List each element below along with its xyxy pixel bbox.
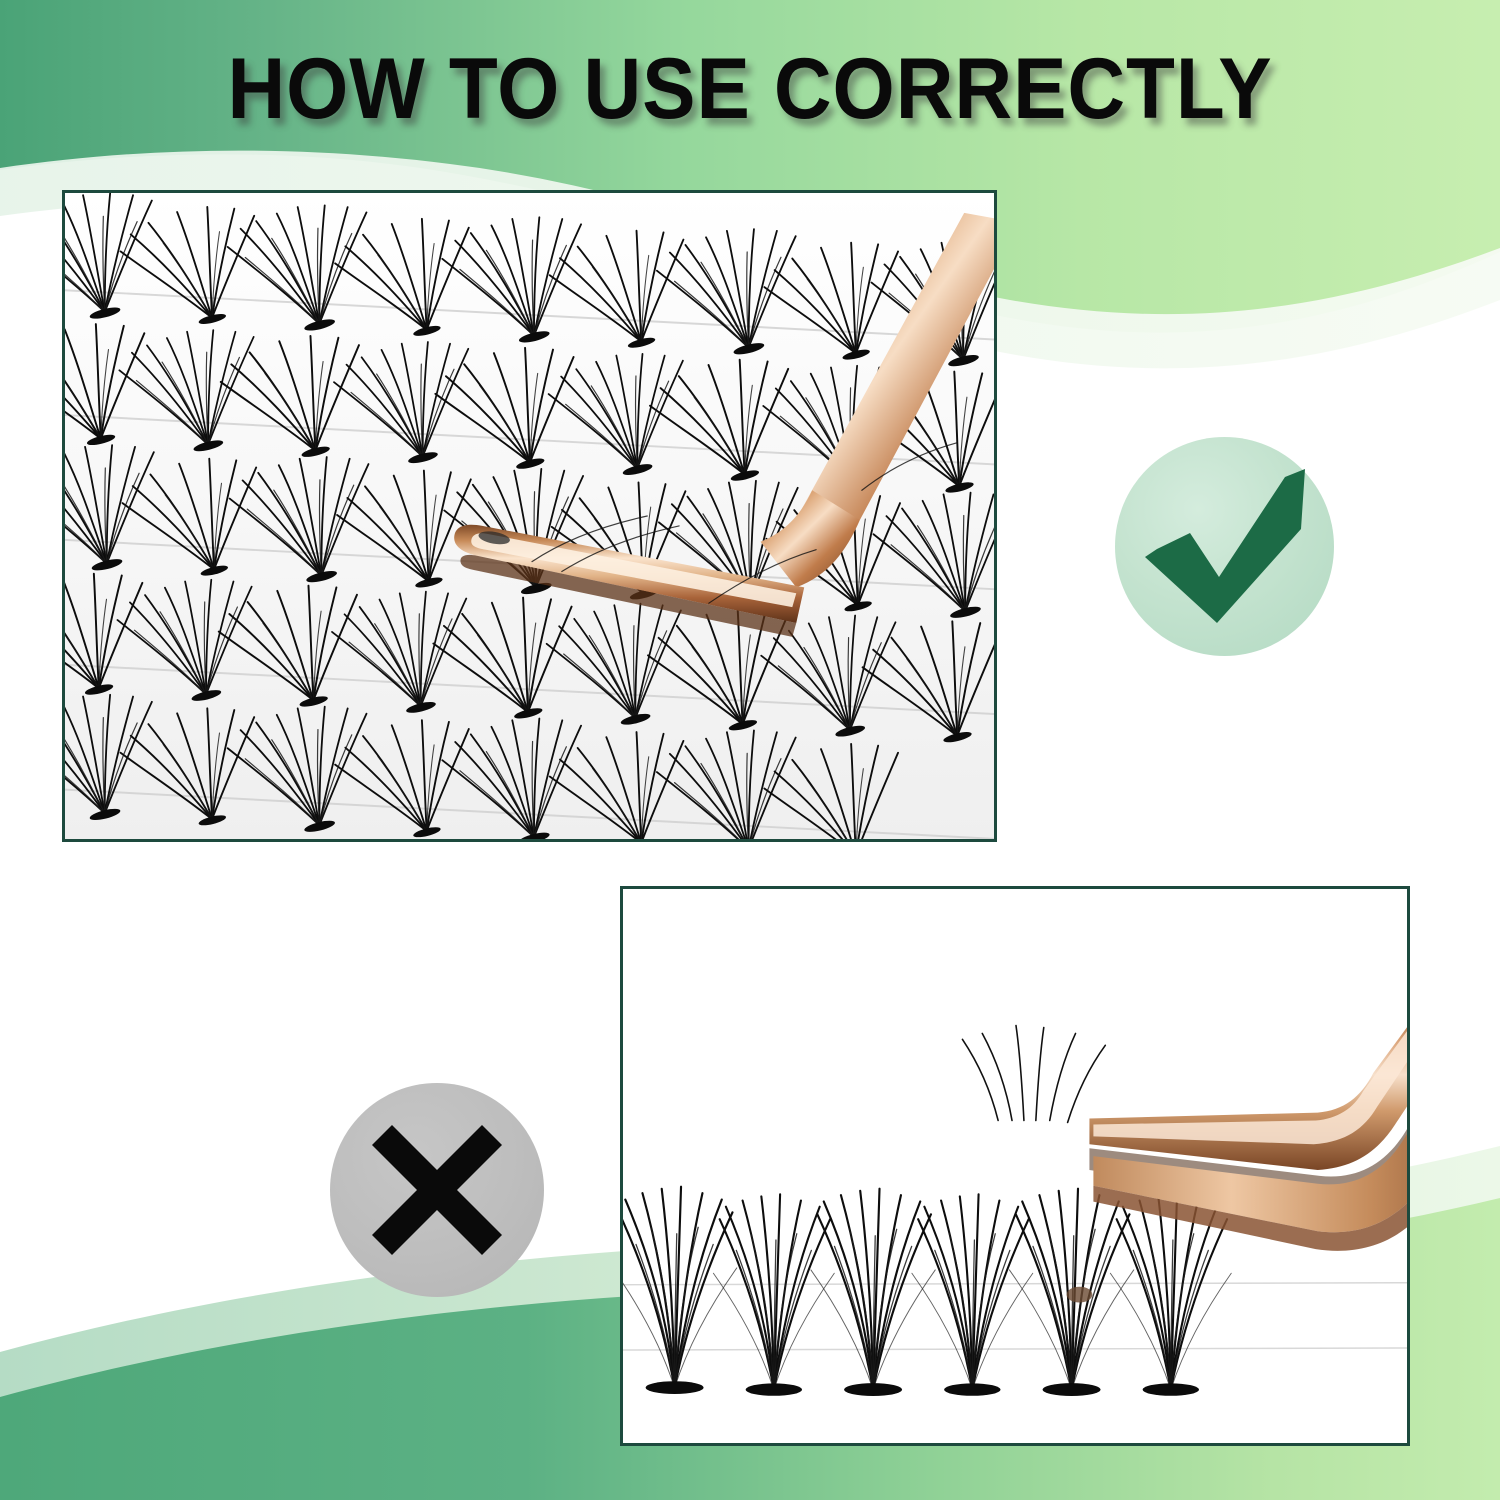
cross-icon	[330, 1083, 544, 1297]
poster-root: HOW TO USE CORRECTLY	[0, 0, 1500, 1500]
photo-correct-content	[65, 193, 994, 839]
check-icon	[1115, 437, 1334, 656]
photo-incorrect-content	[623, 889, 1407, 1443]
page-title: HOW TO USE CORRECTLY	[53, 46, 1448, 134]
photo-incorrect-usage	[620, 886, 1410, 1446]
photo-correct-usage	[62, 190, 997, 842]
